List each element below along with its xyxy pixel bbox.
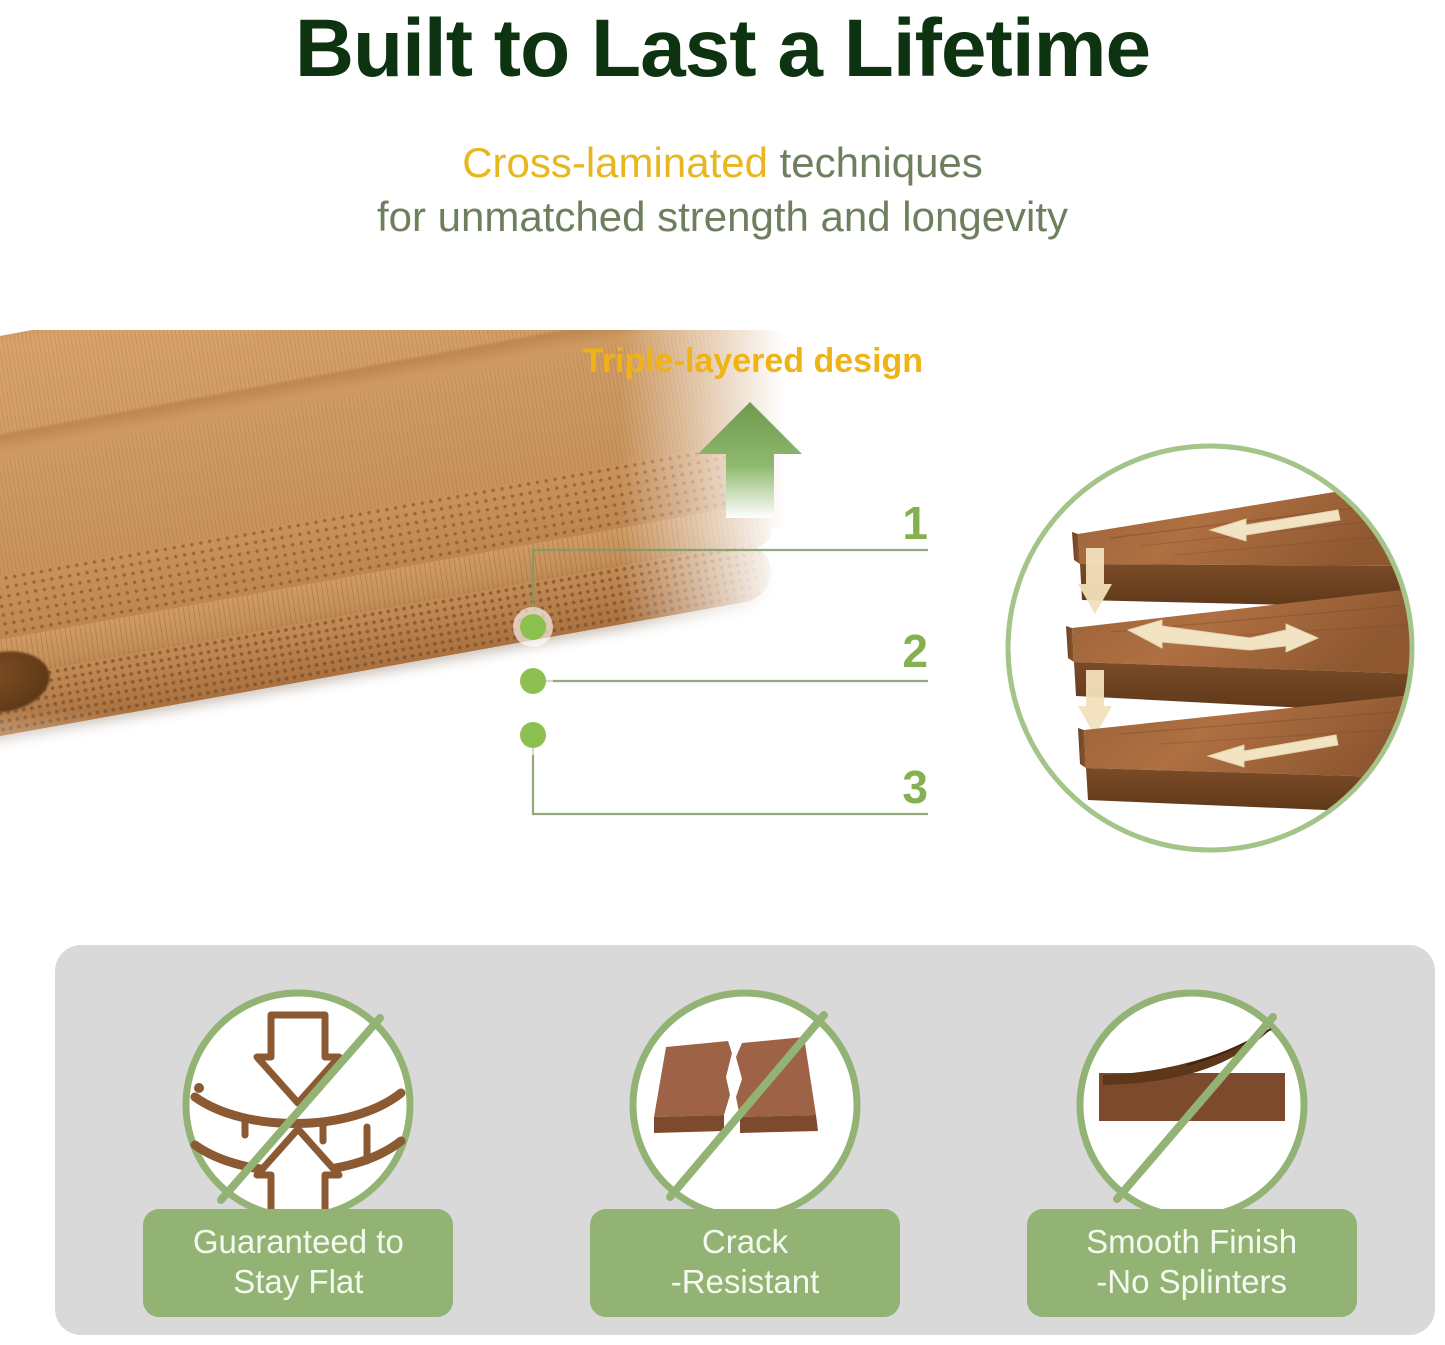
feature-card-crack-resistant: Crack -Resistant (575, 985, 915, 1325)
callout-number-2: 2 (868, 624, 928, 678)
feature-label-line-1: Guaranteed to (151, 1222, 445, 1262)
product-detail-section: Triple-layered design (0, 320, 1445, 920)
feature-card-stay-flat: Guaranteed to Stay Flat (128, 985, 468, 1325)
subtitle: Cross-laminated techniques for unmatched… (0, 136, 1445, 244)
callout-number-3: 3 (868, 760, 928, 814)
page-title: Built to Last a Lifetime (0, 6, 1445, 92)
feature-label-line-1: Smooth Finish (1035, 1222, 1349, 1262)
subtitle-line-1: Cross-laminated techniques (0, 136, 1445, 190)
feature-label-line-1: Crack (598, 1222, 892, 1262)
feature-label-line-2: -No Splinters (1035, 1262, 1349, 1302)
splintered-board-icon (1067, 985, 1317, 1235)
feature-card-smooth-finish: Smooth Finish -No Splinters (1022, 985, 1362, 1325)
feature-label-crack-resistant: Crack -Resistant (590, 1209, 900, 1318)
subtitle-plain-text: techniques (768, 139, 983, 186)
subtitle-accent-text: Cross-laminated (462, 139, 768, 186)
layer-marker-dot-1 (513, 607, 553, 647)
warped-board-icon (173, 985, 423, 1235)
callout-number-1: 1 (868, 496, 928, 550)
subtitle-line-2: for unmatched strength and longevity (0, 190, 1445, 244)
header: Built to Last a Lifetime Cross-laminated… (0, 0, 1445, 244)
feature-label-line-2: -Resistant (598, 1262, 892, 1302)
feature-label-smooth-finish: Smooth Finish -No Splinters (1027, 1209, 1357, 1318)
feature-label-stay-flat: Guaranteed to Stay Flat (143, 1209, 453, 1318)
feature-highlights-panel: Guaranteed to Stay Flat Crack -Resistant (55, 945, 1435, 1335)
cross-laminated-layers-diagram (1000, 438, 1420, 858)
feature-label-line-2: Stay Flat (151, 1262, 445, 1302)
layer-marker-dot-2 (513, 661, 553, 701)
layer-marker-dot-3 (513, 715, 553, 755)
cracked-board-icon (620, 985, 870, 1235)
